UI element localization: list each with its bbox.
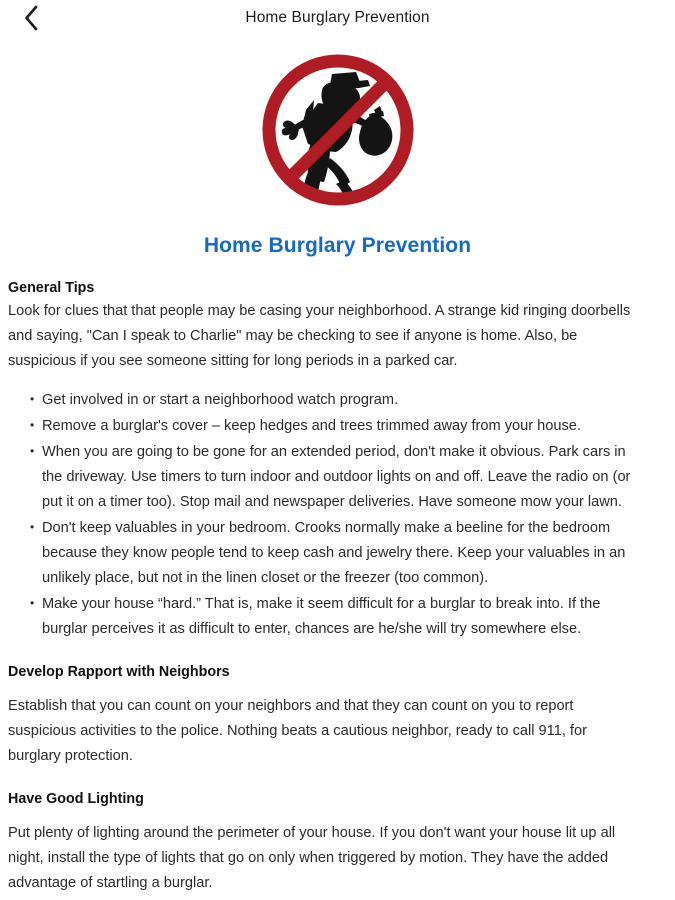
section-heading-good-lighting: Have Good Lighting [8,791,641,807]
list-item: When you are going to be gone for an ext… [8,440,641,515]
section-heading-develop-rapport: Develop Rapport with Neighbors [8,664,641,680]
document-title: Home Burglary Prevention [0,234,675,258]
section-heading-general-tips: General Tips [8,280,641,296]
back-button[interactable] [14,2,48,34]
app-bar: Home Burglary Prevention [0,0,675,36]
chevron-left-icon [23,5,40,31]
section-paragraph-general-tips: Look for clues that that people may be c… [8,299,641,374]
general-tips-list: Get involved in or start a neighborhood … [8,388,641,642]
list-item: Don't keep valuables in your bedroom. Cr… [8,516,641,591]
hero-image-container [0,48,675,220]
article-content: General Tips Look for clues that that pe… [0,280,675,896]
list-item: Remove a burglar's cover – keep hedges a… [8,414,641,439]
list-item: Make your house “hard.” That is, make it… [8,592,641,642]
list-item: Get involved in or start a neighborhood … [8,388,641,413]
page-title: Home Burglary Prevention [245,9,429,27]
section-paragraph-good-lighting: Put plenty of lighting around the perime… [8,821,641,896]
no-burglar-icon [256,48,420,212]
section-paragraph-develop-rapport: Establish that you can count on your nei… [8,694,641,769]
